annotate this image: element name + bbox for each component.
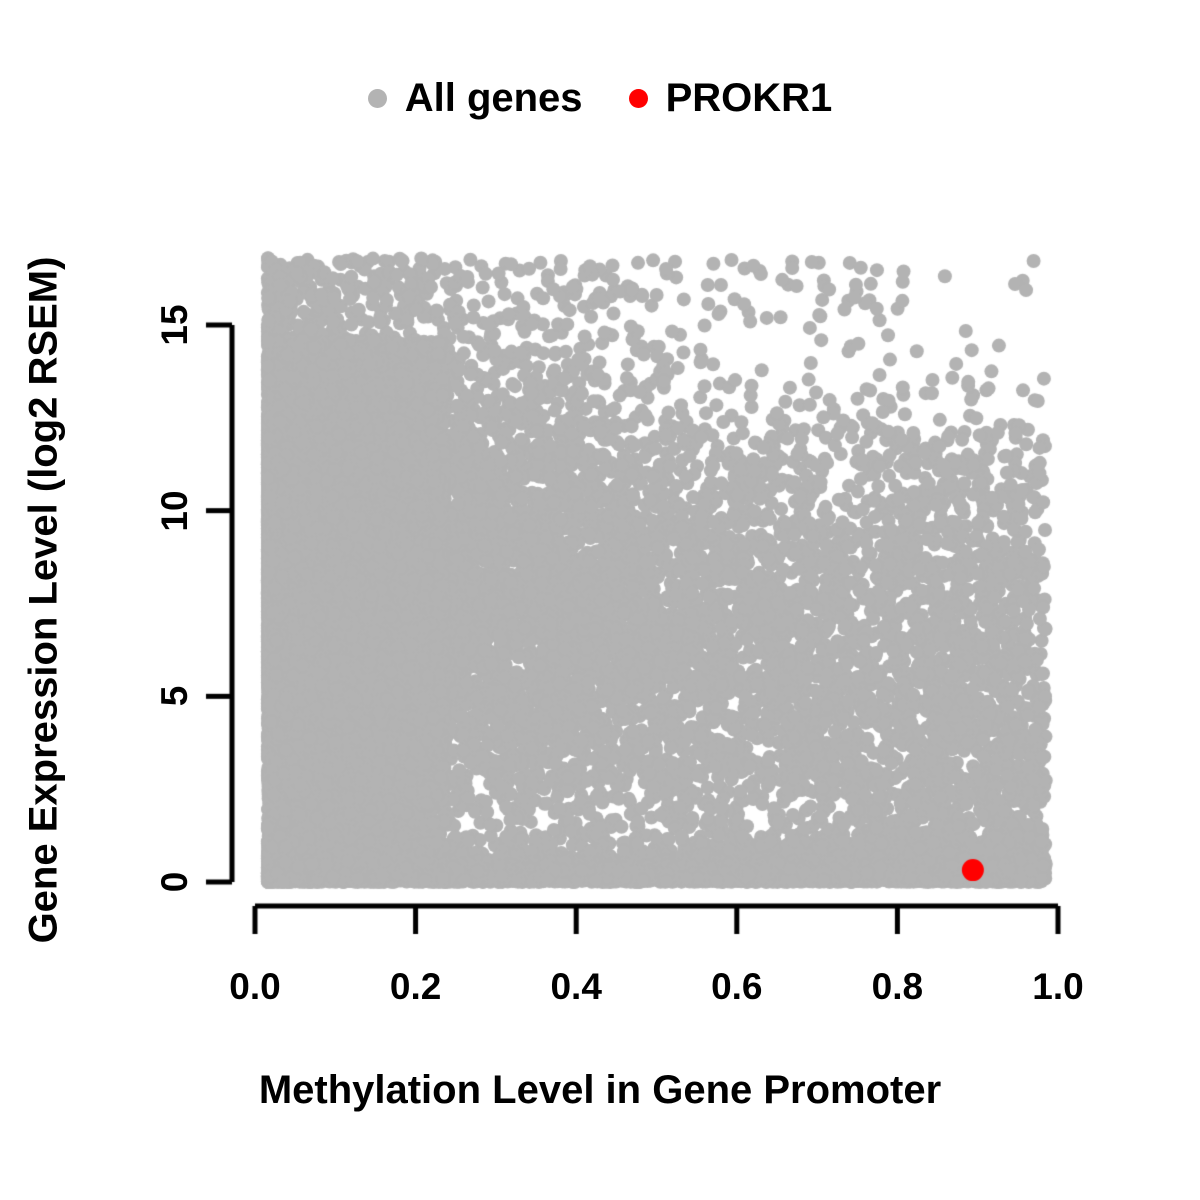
y-tick-label: 15 bbox=[154, 304, 196, 345]
x-tick-label: 0.2 bbox=[390, 966, 441, 1008]
x-tick-label: 0.6 bbox=[711, 966, 762, 1008]
x-tick-label: 1.0 bbox=[1032, 966, 1083, 1008]
x-axis-title: Methylation Level in Gene Promoter bbox=[0, 1068, 1200, 1113]
y-tick-label: 5 bbox=[154, 686, 196, 707]
x-tick-label: 0.0 bbox=[229, 966, 280, 1008]
y-tick-label: 0 bbox=[154, 872, 196, 893]
x-tick-label: 0.8 bbox=[872, 966, 923, 1008]
scatter-plot-figure: All genes PROKR1 Methylation Level in Ge… bbox=[0, 0, 1200, 1200]
y-tick-label: 10 bbox=[154, 490, 196, 531]
scatter-plot-canvas bbox=[0, 0, 1200, 1200]
x-tick-label: 0.4 bbox=[550, 966, 601, 1008]
